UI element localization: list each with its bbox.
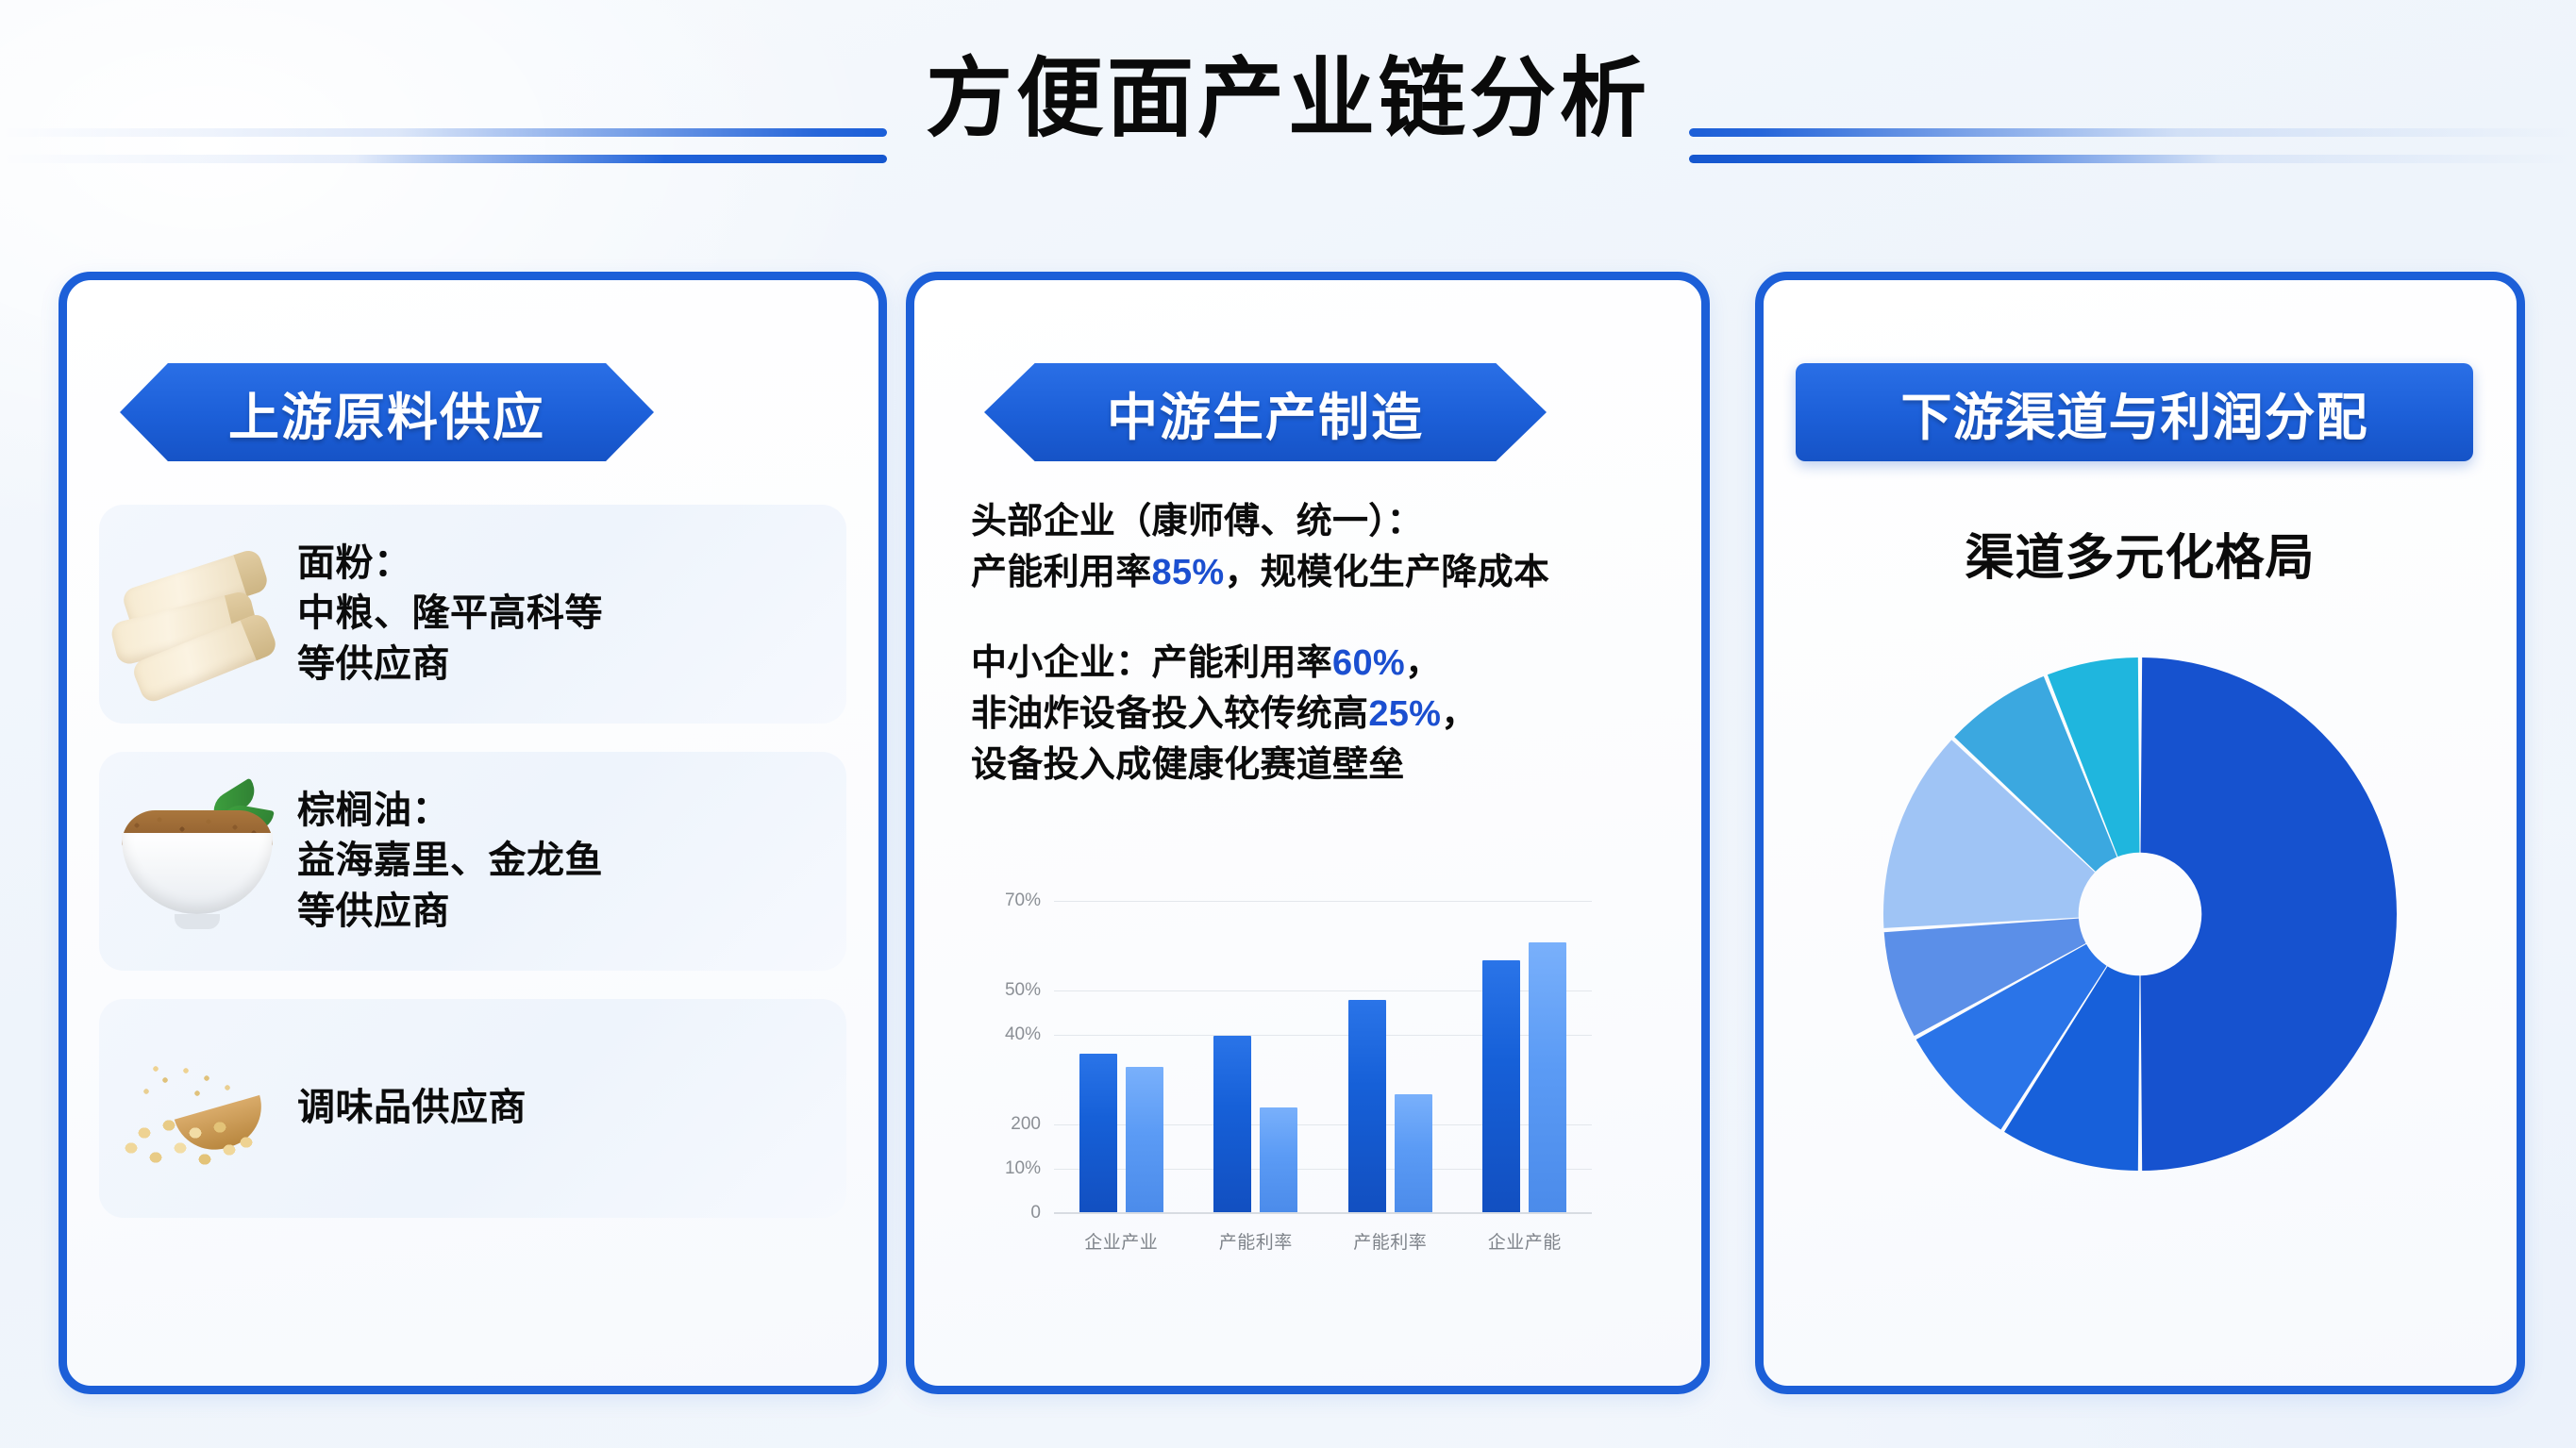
bar-chart-bar[interactable] [1482, 960, 1520, 1214]
midstream-capacity-bar-chart: 70%50%40%20010%0 企业产业产能利率产能利率企业产能 [948, 880, 1609, 1286]
banner-upstream-label: 上游原料供应 [228, 375, 545, 450]
soybean-scoop-icon [99, 1014, 297, 1203]
upstream-item-list: 面粉：中粮、隆平高科等等供应商 棕榈油：益海嘉里、金龙鱼等供应商 调味品供应商 [99, 505, 846, 1246]
bar-chart-group [1323, 893, 1458, 1214]
bar-chart-baseline [1054, 1212, 1592, 1214]
bar-chart-bar[interactable] [1079, 1054, 1117, 1214]
list-item[interactable]: 调味品供应商 [99, 999, 846, 1218]
donut-svg [1876, 650, 2404, 1178]
downstream-channel-donut-chart [1764, 650, 2517, 1178]
banner-upstream: 上游原料供应 [120, 363, 654, 461]
palm-oil-bowl-icon [99, 767, 297, 956]
bar-chart-x-label: 产能利率 [1189, 1228, 1324, 1254]
noodle-sticks-icon [99, 520, 297, 708]
bar-chart-x-label: 产能利率 [1323, 1228, 1458, 1254]
bar-chart-y-tick: 50% [1005, 980, 1041, 1001]
bar-chart-x-label: 企业产能 [1458, 1228, 1593, 1254]
downstream-subtitle: 渠道多元化格局 [1764, 518, 2517, 589]
midstream-text-block: 头部企业（康师傅、统一）：产能利用率85%，规模化生产降成本 中小企业：产能利用… [971, 497, 1669, 791]
list-item-label: 调味品供应商 [297, 1083, 527, 1133]
bar-chart-group [1458, 893, 1593, 1214]
bar-chart-y-tick: 0 [1030, 1203, 1041, 1223]
bar-chart-bar[interactable] [1213, 1036, 1251, 1214]
list-item-label: 面粉：中粮、隆平高科等等供应商 [297, 539, 603, 690]
card-midstream: 中游生产制造 头部企业（康师傅、统一）：产能利用率85%，规模化生产降成本 中小… [906, 272, 1710, 1394]
midstream-paragraph-2: 中小企业：产能利用率60%，非油炸设备投入较传统高25%，设备投入成健康化赛道壁… [971, 639, 1669, 791]
slide-root: 方便面产业链分析 上游原料供应 面粉：中粮、隆平高科等等供应商 [0, 0, 2576, 1448]
bar-chart-bar[interactable] [1260, 1107, 1297, 1214]
columns-container: 上游原料供应 面粉：中粮、隆平高科等等供应商 棕榈油：益海嘉里、金龙鱼等供应商 [0, 272, 2576, 1394]
bar-chart-y-tick: 70% [1005, 890, 1041, 911]
bar-chart-group [1054, 893, 1189, 1214]
banner-midstream-label: 中游生产制造 [1107, 375, 1424, 450]
bar-chart-bar[interactable] [1348, 1000, 1386, 1214]
list-item[interactable]: 面粉：中粮、隆平高科等等供应商 [99, 505, 846, 724]
list-item[interactable]: 棕榈油：益海嘉里、金龙鱼等供应商 [99, 752, 846, 971]
card-upstream: 上游原料供应 面粉：中粮、隆平高科等等供应商 棕榈油：益海嘉里、金龙鱼等供应商 [59, 272, 887, 1394]
header: 方便面产业链分析 [0, 38, 2576, 160]
midstream-paragraph-1: 头部企业（康师傅、统一）：产能利用率85%，规模化生产降成本 [971, 497, 1669, 599]
bar-chart-y-tick: 200 [1011, 1114, 1041, 1135]
bar-chart-bar[interactable] [1529, 942, 1566, 1214]
list-item-label: 棕榈油：益海嘉里、金龙鱼等供应商 [297, 786, 603, 937]
card-downstream: 下游渠道与利润分配 渠道多元化格局 [1755, 272, 2525, 1394]
donut-slice[interactable] [2141, 657, 2397, 1171]
page-title: 方便面产业链分析 [0, 38, 2576, 160]
bar-chart-plot: 70%50%40%20010%0 [1054, 893, 1592, 1214]
bar-chart-group [1189, 893, 1324, 1214]
bar-chart-x-labels: 企业产业产能利率产能利率企业产能 [1054, 1228, 1592, 1254]
bar-chart-groups [1054, 893, 1592, 1214]
bar-chart-y-tick: 40% [1005, 1024, 1041, 1045]
banner-downstream: 下游渠道与利润分配 [1796, 363, 2473, 461]
banner-midstream: 中游生产制造 [984, 363, 1547, 461]
bar-chart-bar[interactable] [1395, 1094, 1432, 1215]
bar-chart-y-tick: 10% [1005, 1158, 1041, 1179]
bar-chart-bar[interactable] [1126, 1067, 1163, 1214]
banner-downstream-label: 下游渠道与利润分配 [1901, 375, 2368, 450]
bar-chart-x-label: 企业产业 [1054, 1228, 1189, 1254]
